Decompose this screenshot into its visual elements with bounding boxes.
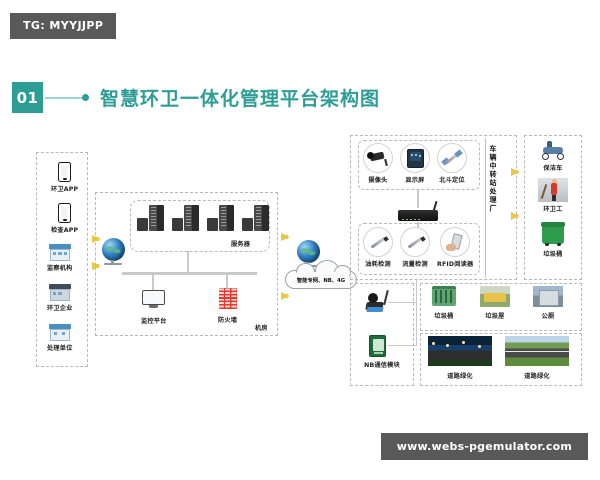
vertical-divider bbox=[485, 138, 486, 278]
monitor-label: 监控平台 bbox=[141, 316, 167, 325]
slide-page: TG: MYYJJPP 01 智慧环卫一体化管理平台架构图 环卫APP 检查AP… bbox=[0, 0, 600, 480]
nb-link-line-upper bbox=[388, 302, 416, 303]
title-connector-line bbox=[45, 97, 83, 99]
government-building-icon bbox=[49, 244, 71, 261]
architecture-diagram: 环卫APP 检查APP 监察机构 环卫企业 bbox=[0, 120, 600, 390]
nb-chip-icon[interactable] bbox=[369, 335, 386, 357]
servers-label: 服务器 bbox=[231, 239, 250, 248]
cloud-icon[interactable]: 智能专网、NB、4G bbox=[285, 260, 357, 290]
display-screen-icon bbox=[400, 143, 430, 173]
device-camera[interactable]: 摄像头 bbox=[363, 143, 393, 184]
flow-arrow-right-upper bbox=[511, 168, 520, 176]
greening-day[interactable]: 道路绿化 bbox=[505, 336, 569, 380]
server-room-label: 机房 bbox=[255, 323, 268, 332]
greening-label: 道路绿化 bbox=[524, 371, 550, 380]
road-greening-day-photo bbox=[505, 336, 569, 366]
flow-arrow-center-upper bbox=[281, 233, 290, 241]
device-fuel-sensor[interactable]: 油耗检测 bbox=[363, 227, 393, 268]
actor-huanwei-app[interactable]: 环卫APP bbox=[51, 162, 78, 193]
site-watermark: www.webs-pgemulator.com bbox=[381, 433, 588, 460]
device-rfid-reader[interactable]: RFID阅读器 bbox=[437, 227, 473, 268]
device-display[interactable]: 显示屏 bbox=[400, 143, 430, 184]
storage-icon bbox=[172, 218, 183, 231]
firewall-node[interactable]: 防火墙 bbox=[218, 288, 237, 324]
nb-vertical-line bbox=[416, 280, 417, 346]
satellite-icon bbox=[437, 143, 467, 173]
asset-cleaning-vehicle[interactable]: 保洁车 bbox=[538, 140, 568, 172]
sanitation-worker-icon bbox=[538, 178, 568, 202]
cloud-label: 智能专网、NB、4G bbox=[285, 276, 357, 284]
public-toilet-photo bbox=[533, 286, 563, 307]
device-flow-sensor[interactable]: 流量检测 bbox=[400, 227, 430, 268]
actor-supervision-agency[interactable]: 监察机构 bbox=[47, 244, 73, 272]
facility-label: 公厕 bbox=[542, 311, 555, 320]
server-tower-icon bbox=[219, 205, 234, 231]
greening-label: 道路绿化 bbox=[447, 371, 473, 380]
storage-icon bbox=[137, 218, 148, 231]
actor-label: 检查APP bbox=[51, 225, 78, 234]
monitoring-platform-node[interactable]: 监控平台 bbox=[141, 290, 167, 325]
firewall-icon bbox=[219, 288, 237, 309]
flow-arrow-right-lower bbox=[511, 212, 520, 220]
storage-icon bbox=[207, 218, 218, 231]
bus-riser bbox=[187, 251, 189, 273]
road-greening-night-photo bbox=[428, 336, 492, 366]
flow-arrow-center-lower bbox=[281, 292, 290, 300]
device-label: 显示屏 bbox=[405, 175, 424, 184]
asset-sanitation-worker[interactable]: 环卫工 bbox=[538, 178, 568, 213]
tg-watermark-badge: TG: MYYJJPP bbox=[10, 13, 116, 39]
flow-sensor-icon bbox=[400, 227, 430, 257]
facility-garbage-house[interactable]: 垃圾屋 bbox=[480, 286, 510, 320]
device-label: RFID阅读器 bbox=[437, 259, 473, 268]
nb-module-label: NB通信模块 bbox=[357, 360, 407, 369]
facility-label: 垃圾屋 bbox=[485, 311, 504, 320]
router-icon[interactable] bbox=[398, 206, 438, 222]
server-unit[interactable] bbox=[172, 205, 199, 231]
asset-label: 垃圾桶 bbox=[543, 249, 562, 258]
wireless-modem-icon[interactable] bbox=[366, 292, 390, 312]
green-trash-bin-icon bbox=[542, 225, 564, 244]
server-unit[interactable] bbox=[137, 205, 164, 231]
vehicle-transfer-plant-label: 车辆中转站处理厂 bbox=[489, 145, 496, 213]
trash-bins-photo bbox=[432, 286, 456, 306]
factory-building-icon bbox=[49, 324, 71, 341]
rfid-reader-icon bbox=[440, 227, 470, 257]
server-tower-icon bbox=[254, 205, 269, 231]
fuel-sensor-icon bbox=[363, 227, 393, 257]
network-bus-line bbox=[122, 272, 257, 275]
actor-label: 环卫APP bbox=[51, 184, 78, 193]
server-unit[interactable] bbox=[242, 205, 269, 231]
camera-icon bbox=[363, 143, 393, 173]
server-unit[interactable] bbox=[207, 205, 234, 231]
server-tower-icon bbox=[149, 205, 164, 231]
actor-jiancha-app[interactable]: 检查APP bbox=[51, 203, 78, 234]
device-beidou[interactable]: 北斗定位 bbox=[437, 143, 467, 184]
actor-label: 监察机构 bbox=[47, 263, 73, 272]
slide-title-row: 01 智慧环卫一体化管理平台架构图 bbox=[12, 82, 380, 113]
nb-link-line-lower bbox=[388, 345, 416, 346]
device-label: 摄像头 bbox=[368, 175, 387, 184]
garbage-house-photo bbox=[480, 286, 510, 307]
server-tower-icon bbox=[184, 205, 199, 231]
facility-label: 垃圾桶 bbox=[434, 311, 453, 320]
actor-processing-unit[interactable]: 处理单位 bbox=[47, 324, 73, 352]
printer-icon bbox=[242, 218, 253, 231]
asset-label: 环卫工 bbox=[543, 204, 562, 213]
actor-label: 处理单位 bbox=[47, 343, 73, 352]
mobile-phone-icon bbox=[58, 203, 71, 223]
device-label: 油耗检测 bbox=[365, 259, 391, 268]
office-building-icon bbox=[49, 284, 71, 301]
title-connector-dot bbox=[82, 94, 89, 101]
actor-label: 环卫企业 bbox=[47, 303, 73, 312]
asset-label: 保洁车 bbox=[543, 163, 562, 172]
greening-night[interactable]: 道路绿化 bbox=[428, 336, 492, 380]
facility-public-toilet[interactable]: 公厕 bbox=[533, 286, 563, 320]
cleaning-vehicle-icon bbox=[538, 140, 568, 161]
facility-trash-bins[interactable]: 垃圾桶 bbox=[432, 286, 456, 320]
section-number-badge: 01 bbox=[12, 82, 43, 113]
page-title: 智慧环卫一体化管理平台架构图 bbox=[100, 84, 380, 111]
device-label: 北斗定位 bbox=[439, 175, 465, 184]
actor-sanitation-company[interactable]: 环卫企业 bbox=[47, 284, 73, 312]
asset-trash-bin[interactable]: 垃圾桶 bbox=[542, 225, 564, 258]
monitor-icon bbox=[142, 290, 165, 309]
mobile-phone-icon bbox=[58, 162, 71, 182]
firewall-label: 防火墙 bbox=[218, 315, 237, 324]
device-label: 流量检测 bbox=[402, 259, 428, 268]
